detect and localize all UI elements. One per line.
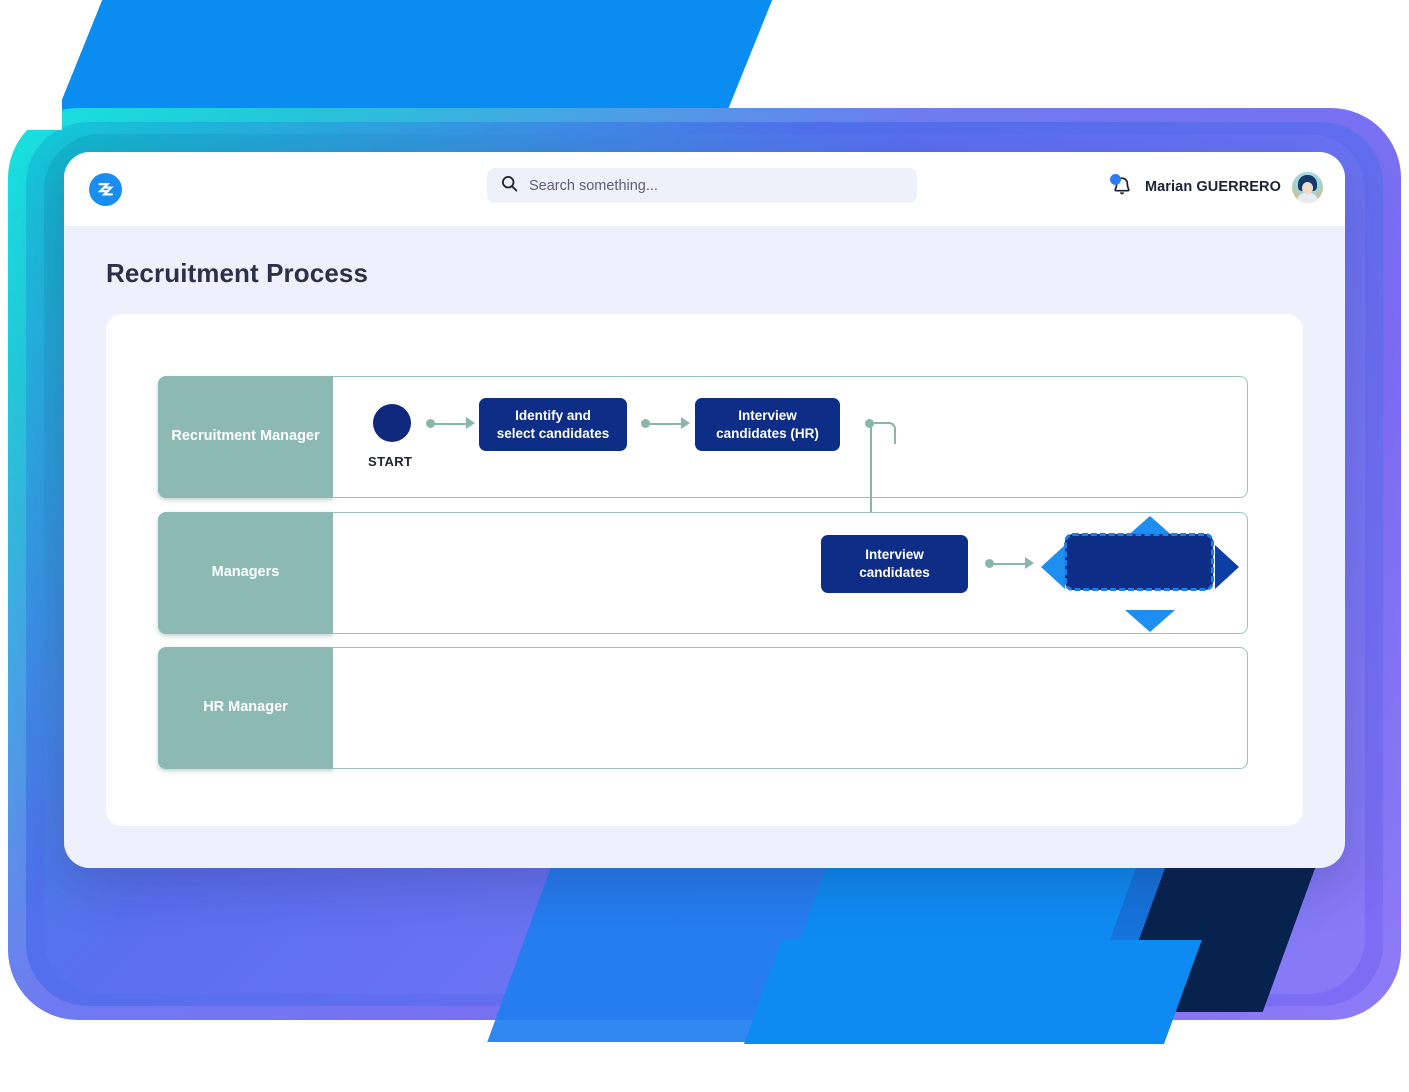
node-identify-select-candidates[interactable]: Identify and select candidates	[479, 398, 627, 451]
avatar-body-shape	[1297, 193, 1318, 203]
diagram-canvas[interactable]: Recruitment Manager START Identify and	[106, 314, 1303, 826]
swimlane-body-recruitment-manager[interactable]: START Identify and select candidates	[333, 376, 1248, 498]
background-ribbon-bottom-5	[738, 940, 1202, 1060]
swimlane-label: HR Manager	[203, 698, 288, 718]
node-start-label: START	[368, 454, 412, 469]
resize-handle-right-icon[interactable]	[1215, 545, 1239, 589]
node-start-event[interactable]	[373, 404, 411, 442]
node-label-line1: Identify and	[515, 408, 591, 423]
page-title: Recruitment Process	[106, 226, 1303, 289]
swimlane-hr-manager[interactable]: HR Manager	[158, 647, 1248, 769]
search-icon	[501, 175, 518, 197]
user-avatar[interactable]	[1292, 172, 1323, 203]
search-input-placeholder[interactable]: Search something...	[529, 178, 658, 194]
background-mask-bottom	[0, 1044, 1409, 1092]
app-window: Search something... Marian GUERRERO	[64, 152, 1345, 868]
background-ribbon-bottom-4	[1113, 862, 1318, 1012]
node-label-line2: candidates (HR)	[716, 426, 819, 441]
connector-elbow-corner	[872, 422, 896, 444]
connector-line-4	[992, 563, 1028, 565]
background-ribbon-bottom-2	[752, 862, 1138, 1072]
node-label-line1: Interview	[738, 408, 797, 423]
node-label-line2: candidates	[859, 565, 930, 580]
background-ribbon-top-right	[304, 0, 777, 120]
swimlane-body-hr-manager[interactable]	[333, 647, 1248, 769]
swimlane-label-line2: Manager	[260, 427, 320, 447]
swimlane-label-line1: Recruitment	[171, 427, 256, 447]
node-new-selected[interactable]	[1065, 534, 1213, 590]
connector-line-2	[648, 423, 684, 425]
node-label-line1: Interview	[865, 547, 924, 562]
swimlane-managers[interactable]: Managers Interview candidates	[158, 512, 1248, 634]
background-ribbon-bottom-3	[983, 862, 1218, 1012]
resize-handle-down-icon[interactable]	[1125, 610, 1175, 632]
app-logo-icon[interactable]	[89, 173, 122, 206]
background-mask-left	[0, 0, 62, 130]
swimlane-label: Managers	[212, 563, 280, 583]
page-body: Recruitment Process Recruitment Manager …	[64, 226, 1345, 868]
user-name-label: Marian GUERRERO	[1145, 179, 1281, 195]
notification-bell-icon[interactable]	[1110, 174, 1134, 200]
resize-handle-left-icon[interactable]	[1041, 545, 1065, 589]
swimlane-header-managers[interactable]: Managers	[158, 512, 333, 634]
swimlane-recruitment-manager[interactable]: Recruitment Manager START Identify and	[158, 376, 1248, 498]
node-interview-candidates-hr[interactable]: Interview candidates (HR)	[695, 398, 840, 451]
connector-arrowhead-4	[1025, 557, 1034, 569]
connector-arrowhead-1	[466, 417, 475, 429]
node-label-line2: select candidates	[497, 426, 610, 441]
notification-unread-dot	[1110, 174, 1121, 185]
selected-node-group[interactable]	[1037, 518, 1241, 630]
connector-arrowhead-2	[681, 417, 690, 429]
search-bar[interactable]: Search something...	[487, 168, 917, 203]
app-header: Search something... Marian GUERRERO	[64, 152, 1345, 226]
node-interview-candidates[interactable]: Interview candidates	[821, 535, 968, 593]
connector-line-1	[433, 423, 469, 425]
screenshot-stage: Search something... Marian GUERRERO	[0, 0, 1409, 1092]
swimlane-body-managers[interactable]: Interview candidates	[333, 512, 1248, 634]
user-area: Marian GUERRERO	[1110, 168, 1323, 206]
background-ribbon-bottom-1	[487, 862, 883, 1042]
avatar-face-shape	[1302, 182, 1313, 194]
swimlane-header-recruitment-manager[interactable]: Recruitment Manager	[158, 376, 333, 498]
background-ribbon-top-left	[54, 0, 527, 120]
swimlane-header-hr-manager[interactable]: HR Manager	[158, 647, 333, 769]
